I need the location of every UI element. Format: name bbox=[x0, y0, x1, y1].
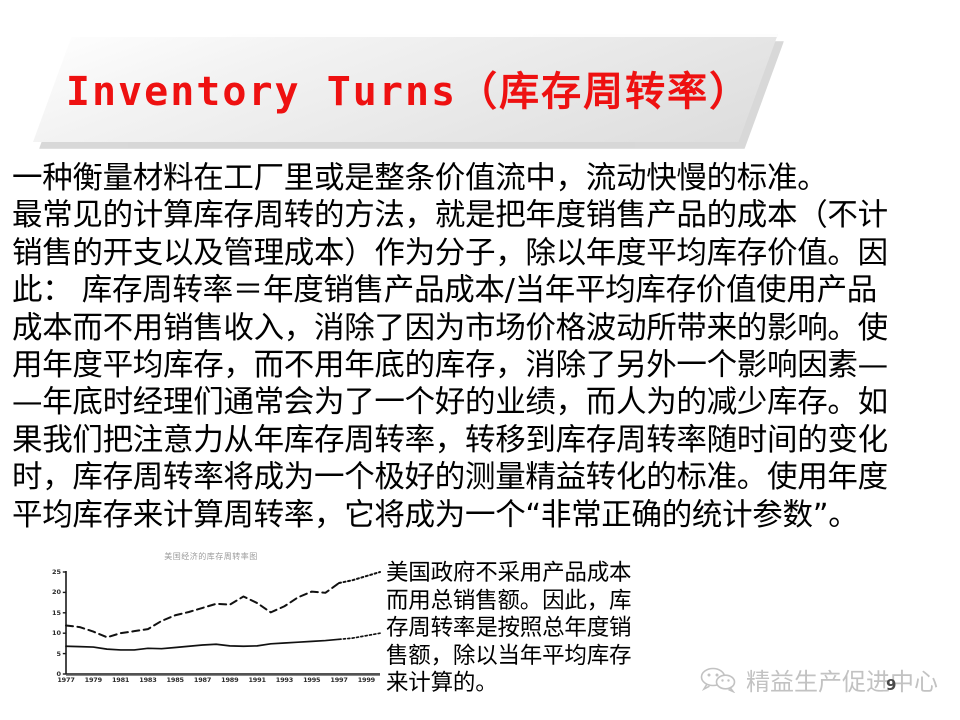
chart-y-tick: 25 bbox=[52, 568, 61, 576]
chart-x-tick: 1979 bbox=[85, 676, 102, 684]
body-line: 平均库存来计算周转率，它将成为一个“非常正确的统计参数”。 bbox=[12, 497, 952, 534]
chart-y-tick: 15 bbox=[52, 609, 61, 617]
chart-caption: 美国政府不采用产品成本 而用总销售额。因此，库 存周转率是按照总年度销 售额，除… bbox=[386, 560, 656, 698]
wechat-icon bbox=[700, 667, 738, 693]
watermark-label: 精益生产促进中心 bbox=[746, 662, 938, 697]
body-paragraph: 一种衡量材料在工厂里或是整条价值流中，流动快慢的标准。 最常见的计算库存周转的方… bbox=[12, 160, 952, 534]
body-line: 成本而不用销售收入，消除了因为市场价格波动所带来的影响。使 bbox=[12, 310, 952, 347]
chart-x-tick: 1991 bbox=[248, 676, 265, 684]
chart-x-tick: 1995 bbox=[303, 676, 320, 684]
body-line: 果我们把注意力从年库存周转率，转移到库存周转率随时间的变化 bbox=[12, 422, 952, 459]
body-line: 用年度平均库存，而不用年底的库存，消除了另外一个影响因素— bbox=[12, 347, 952, 384]
chart-y-tick: 20 bbox=[52, 588, 61, 596]
chart-x-tick: 1977 bbox=[57, 676, 74, 684]
caption-line: 而用总销售额。因此，库 bbox=[386, 588, 656, 616]
body-line: 最常见的计算库存周转的方法，就是把年度销售产品的成本（不计 bbox=[12, 197, 952, 234]
chart-line-0 bbox=[66, 583, 339, 637]
chart-line-1 bbox=[66, 639, 339, 650]
watermark: 精益生产促进中心 bbox=[700, 662, 938, 697]
caption-line: 售额，除以当年平均库存 bbox=[386, 643, 656, 671]
body-line: 时，库存周转率将成为一个极好的测量精益转化的标准。使用年度 bbox=[12, 459, 952, 496]
caption-line: 存周转率是按照总年度销 bbox=[386, 615, 656, 643]
chart-x-tick: 1997 bbox=[330, 676, 347, 684]
chart-y-tick: 10 bbox=[52, 629, 61, 637]
page-title: Inventory Turns（库存周转率） bbox=[33, 34, 778, 142]
body-line: 销售的开支以及管理成本）作为分子，除以年度平均库存价值。因 bbox=[12, 235, 952, 272]
inventory-turns-chart: 美国经济的库存周转率图 0510152025 19771979198119831… bbox=[36, 548, 386, 708]
body-line: 此： 库存周转率＝年度销售产品成本/当年平均库存价值使用产品 bbox=[12, 272, 952, 309]
page-number: 9 bbox=[886, 676, 896, 694]
chart-y-tick: 5 bbox=[56, 650, 61, 658]
chart-x-tick: 1983 bbox=[139, 676, 156, 684]
caption-line: 来计算的。 bbox=[386, 670, 656, 698]
chart-x-tick: 1987 bbox=[194, 676, 211, 684]
chart-canvas: 0510152025 19771979198119831985198719891… bbox=[36, 564, 386, 702]
chart-x-tick: 1989 bbox=[221, 676, 238, 684]
chart-x-tick: 1985 bbox=[167, 676, 184, 684]
chart-series-group bbox=[66, 572, 380, 650]
chart-x-tick: 1993 bbox=[276, 676, 293, 684]
chart-x-tick: 1981 bbox=[112, 676, 129, 684]
chart-x-tick-labels: 1977197919811983198519871989199119931995… bbox=[36, 676, 386, 690]
caption-line: 美国政府不采用产品成本 bbox=[386, 560, 656, 588]
chart-title: 美国经济的库存周转率图 bbox=[36, 551, 386, 562]
body-line: 一种衡量材料在工厂里或是整条价值流中，流动快慢的标准。 bbox=[12, 160, 952, 197]
body-line: —年底时经理们通常会为了一个好的业绩，而人为的减少库存。如 bbox=[12, 384, 952, 421]
chart-line-0 bbox=[339, 572, 380, 583]
chart-x-tick: 1999 bbox=[358, 676, 375, 684]
title-banner: Inventory Turns（库存周转率） bbox=[33, 34, 778, 142]
chart-line-1 bbox=[339, 633, 380, 639]
